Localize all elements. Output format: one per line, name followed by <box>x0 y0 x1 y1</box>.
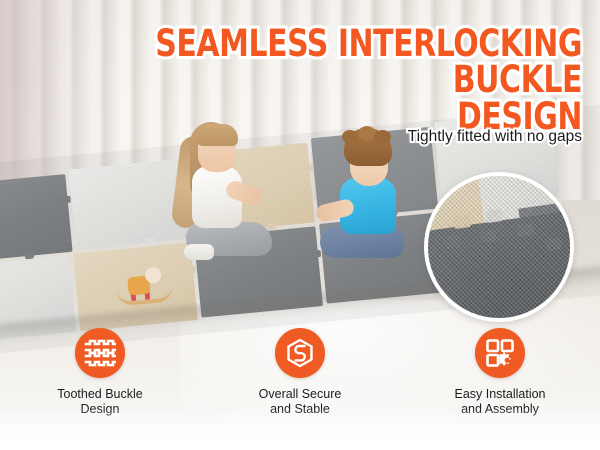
closeup-texture <box>428 176 570 318</box>
feature-label: Toothed Buckle Design <box>57 387 142 418</box>
feature-label: Overall Secure and Stable <box>259 387 342 418</box>
feature-item-toothed-buckle: Toothed Buckle Design <box>15 328 185 418</box>
toothed-buckle-icon <box>84 339 116 367</box>
product-poster: SEAMLESS INTERLOCKING BUCKLE DESIGN Tigh… <box>0 0 600 450</box>
gear-center <box>505 358 510 363</box>
feature-icon-circle <box>75 328 125 378</box>
girl-foot <box>184 244 214 260</box>
girl-child <box>168 118 278 268</box>
feature-icon-circle <box>275 328 325 378</box>
headline-line-1: SEAMLESS INTERLOCKING BUCKLE <box>74 26 582 99</box>
closeup-circle <box>424 172 574 322</box>
feature-list: Toothed Buckle Design Overall Secure and… <box>0 328 600 418</box>
mat-nub <box>303 164 313 172</box>
feature-item-overall-secure: Overall Secure and Stable <box>215 328 385 418</box>
squares-gear-install-icon <box>484 337 516 369</box>
page-title: SEAMLESS INTERLOCKING BUCKLE DESIGN <box>74 26 582 135</box>
closeup-content <box>428 176 570 318</box>
boy-child <box>318 128 422 270</box>
mat-nub <box>61 196 71 204</box>
feature-label: Easy Installation and Assembly <box>454 387 545 418</box>
mat-tile <box>0 174 73 263</box>
mat-nub <box>65 280 75 288</box>
mat-nub <box>146 238 156 246</box>
toy-head <box>144 266 161 283</box>
mat-nub <box>24 251 34 259</box>
feature-icon-circle <box>475 328 525 378</box>
mat-nub <box>108 241 118 249</box>
feature-item-easy-installation: Easy Installation and Assembly <box>415 328 585 418</box>
hexagon-secure-icon <box>284 337 316 369</box>
rocking-horse-toy <box>115 266 174 307</box>
subtitle: Tightly fitted with no gaps <box>408 128 582 146</box>
